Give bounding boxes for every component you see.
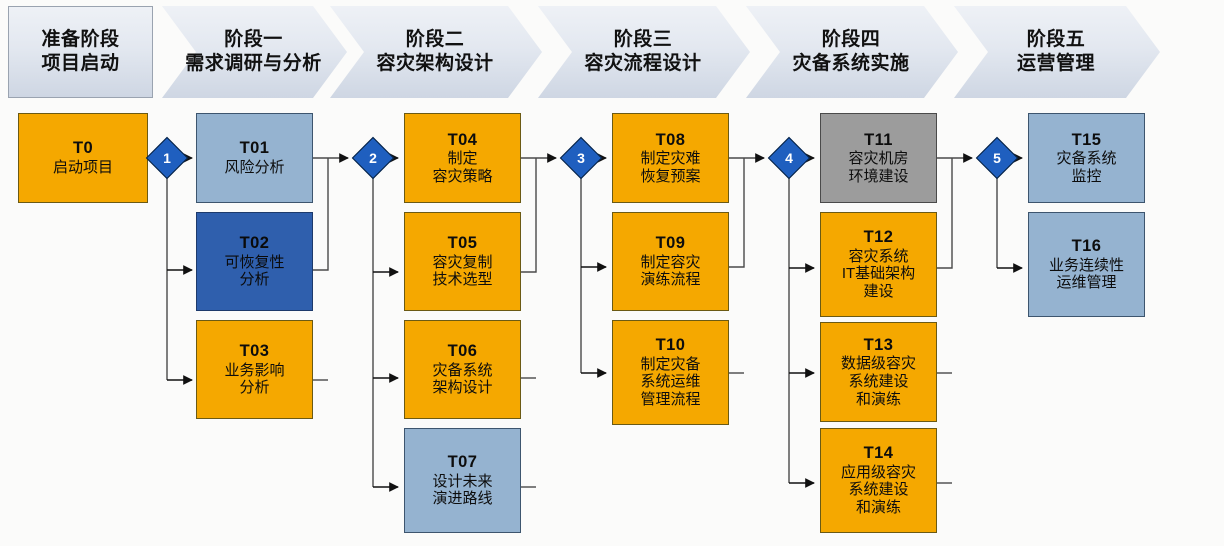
task-box-t12[interactable]: T12 容灾系统 IT基础架构 建设 — [820, 212, 937, 317]
gate-milestone-5[interactable]: 5 — [982, 143, 1012, 173]
phase-banner-label: 阶段五 运营管理 — [954, 6, 1160, 98]
task-line: IT基础架构 — [842, 265, 915, 283]
task-box-t07[interactable]: T07 设计未来 演进路线 — [404, 428, 521, 533]
gate-number: 4 — [774, 143, 804, 173]
task-box-t16[interactable]: T16 业务连续性 运维管理 — [1028, 212, 1145, 317]
phase-banner-label: 准备阶段 项目启动 — [8, 6, 153, 98]
gate-number: 5 — [982, 143, 1012, 173]
task-line: 容灾复制 — [432, 254, 492, 272]
task-box-t02[interactable]: T02 可恢复性 分析 — [196, 212, 313, 311]
task-line: 运维管理 — [1056, 274, 1116, 292]
task-line: 容灾机房 — [848, 150, 908, 168]
task-code: T14 — [864, 444, 894, 463]
task-box-t11[interactable]: T11 容灾机房 环境建设 — [820, 113, 937, 203]
task-code: T11 — [864, 131, 893, 150]
task-code: T10 — [656, 336, 686, 355]
phase-line-1: 阶段四 — [822, 28, 881, 52]
phase-banner-label: 阶段二 容灾架构设计 — [330, 6, 542, 98]
task-code: T03 — [240, 342, 270, 361]
phase-banner-label: 阶段四 灾备系统实施 — [746, 6, 958, 98]
gate-number: 3 — [566, 143, 596, 173]
task-code: T0 — [73, 139, 93, 158]
task-line: 可恢复性 — [224, 254, 284, 272]
gate-milestone-1[interactable]: 1 — [152, 143, 182, 173]
task-code: T15 — [1072, 131, 1102, 150]
task-code: T08 — [656, 131, 686, 150]
phase-line-1: 阶段二 — [406, 28, 465, 52]
task-line: 管理流程 — [640, 391, 700, 409]
gate-number: 2 — [358, 143, 388, 173]
phase-banner-one: 阶段一 需求调研与分析 — [162, 6, 347, 98]
task-code: T02 — [240, 234, 270, 253]
task-line: 风险分析 — [224, 159, 284, 177]
task-line: 业务连续性 — [1049, 257, 1124, 275]
task-box-t13[interactable]: T13 数据级容灾 系统建设 和演练 — [820, 322, 937, 422]
task-line: 系统建设 — [848, 481, 908, 499]
task-code: T16 — [1072, 237, 1102, 256]
phase-banner-four: 阶段四 灾备系统实施 — [746, 6, 958, 98]
task-code: T12 — [864, 228, 894, 247]
phase-line-2: 容灾流程设计 — [584, 52, 701, 76]
task-line: 数据级容灾 — [841, 355, 916, 373]
phase-line-1: 阶段一 — [224, 28, 283, 52]
task-line: 启动项目 — [53, 159, 113, 177]
task-box-t10[interactable]: T10 制定灾备 系统运维 管理流程 — [612, 320, 729, 425]
phase-line-2: 需求调研与分析 — [185, 52, 322, 76]
task-box-t06[interactable]: T06 灾备系统 架构设计 — [404, 320, 521, 419]
phase-banner-prep: 准备阶段 项目启动 — [8, 6, 153, 98]
phase-banner-label: 阶段一 需求调研与分析 — [162, 6, 347, 98]
task-line: 制定 — [447, 150, 477, 168]
task-box-t15[interactable]: T15 灾备系统 监控 — [1028, 113, 1145, 203]
task-box-t09[interactable]: T09 制定容灾 演练流程 — [612, 212, 729, 311]
task-line: 建设 — [863, 283, 893, 301]
task-box-t08[interactable]: T08 制定灾难 恢复预案 — [612, 113, 729, 203]
task-box-t01[interactable]: T01 风险分析 — [196, 113, 313, 203]
phase-line-2: 容灾架构设计 — [376, 52, 493, 76]
task-line: 监控 — [1071, 168, 1101, 186]
phase-line-1: 准备阶段 — [41, 28, 119, 52]
gate-milestone-3[interactable]: 3 — [566, 143, 596, 173]
task-line: 系统建设 — [848, 373, 908, 391]
task-code: T01 — [240, 139, 270, 158]
task-box-t03[interactable]: T03 业务影响 分析 — [196, 320, 313, 419]
task-line: 架构设计 — [432, 379, 492, 397]
gate-milestone-4[interactable]: 4 — [774, 143, 804, 173]
task-line: 环境建设 — [848, 168, 908, 186]
phase-line-2: 项目启动 — [41, 52, 119, 76]
task-line: 制定灾备 — [640, 356, 700, 374]
task-line: 分析 — [239, 271, 269, 289]
task-line: 制定容灾 — [640, 254, 700, 272]
task-code: T05 — [448, 234, 478, 253]
task-line: 演练流程 — [640, 271, 700, 289]
phase-line-2: 运营管理 — [1017, 52, 1095, 76]
task-code: T06 — [448, 342, 478, 361]
task-code: T07 — [448, 453, 478, 472]
task-box-t0[interactable]: T0 启动项目 — [18, 113, 148, 203]
task-line: 和演练 — [856, 391, 901, 409]
task-line: 容灾系统 — [848, 248, 908, 266]
phase-line-1: 阶段三 — [614, 28, 673, 52]
phase-line-1: 阶段五 — [1027, 28, 1086, 52]
phase-line-2: 灾备系统实施 — [792, 52, 909, 76]
task-line: 恢复预案 — [640, 168, 700, 186]
phase-banner-five: 阶段五 运营管理 — [954, 6, 1160, 98]
task-line: 演进路线 — [432, 490, 492, 508]
task-line: 分析 — [239, 379, 269, 397]
task-code: T13 — [864, 336, 894, 355]
task-box-t05[interactable]: T05 容灾复制 技术选型 — [404, 212, 521, 311]
task-line: 和演练 — [856, 499, 901, 517]
task-line: 系统运维 — [640, 373, 700, 391]
gate-milestone-2[interactable]: 2 — [358, 143, 388, 173]
task-line: 制定灾难 — [640, 150, 700, 168]
task-line: 应用级容灾 — [841, 464, 916, 482]
task-code: T04 — [448, 131, 478, 150]
task-line: 技术选型 — [432, 271, 492, 289]
task-code: T09 — [656, 234, 686, 253]
phase-banner-two: 阶段二 容灾架构设计 — [330, 6, 542, 98]
task-line: 灾备系统 — [1056, 150, 1116, 168]
task-box-t14[interactable]: T14 应用级容灾 系统建设 和演练 — [820, 428, 937, 533]
task-line: 设计未来 — [432, 473, 492, 491]
phase-banner-label: 阶段三 容灾流程设计 — [538, 6, 750, 98]
task-line: 灾备系统 — [432, 362, 492, 380]
task-line: 容灾策略 — [432, 168, 492, 186]
task-box-t04[interactable]: T04 制定 容灾策略 — [404, 113, 521, 203]
task-line: 业务影响 — [224, 362, 284, 380]
phase-banner-three: 阶段三 容灾流程设计 — [538, 6, 750, 98]
gate-number: 1 — [152, 143, 182, 173]
